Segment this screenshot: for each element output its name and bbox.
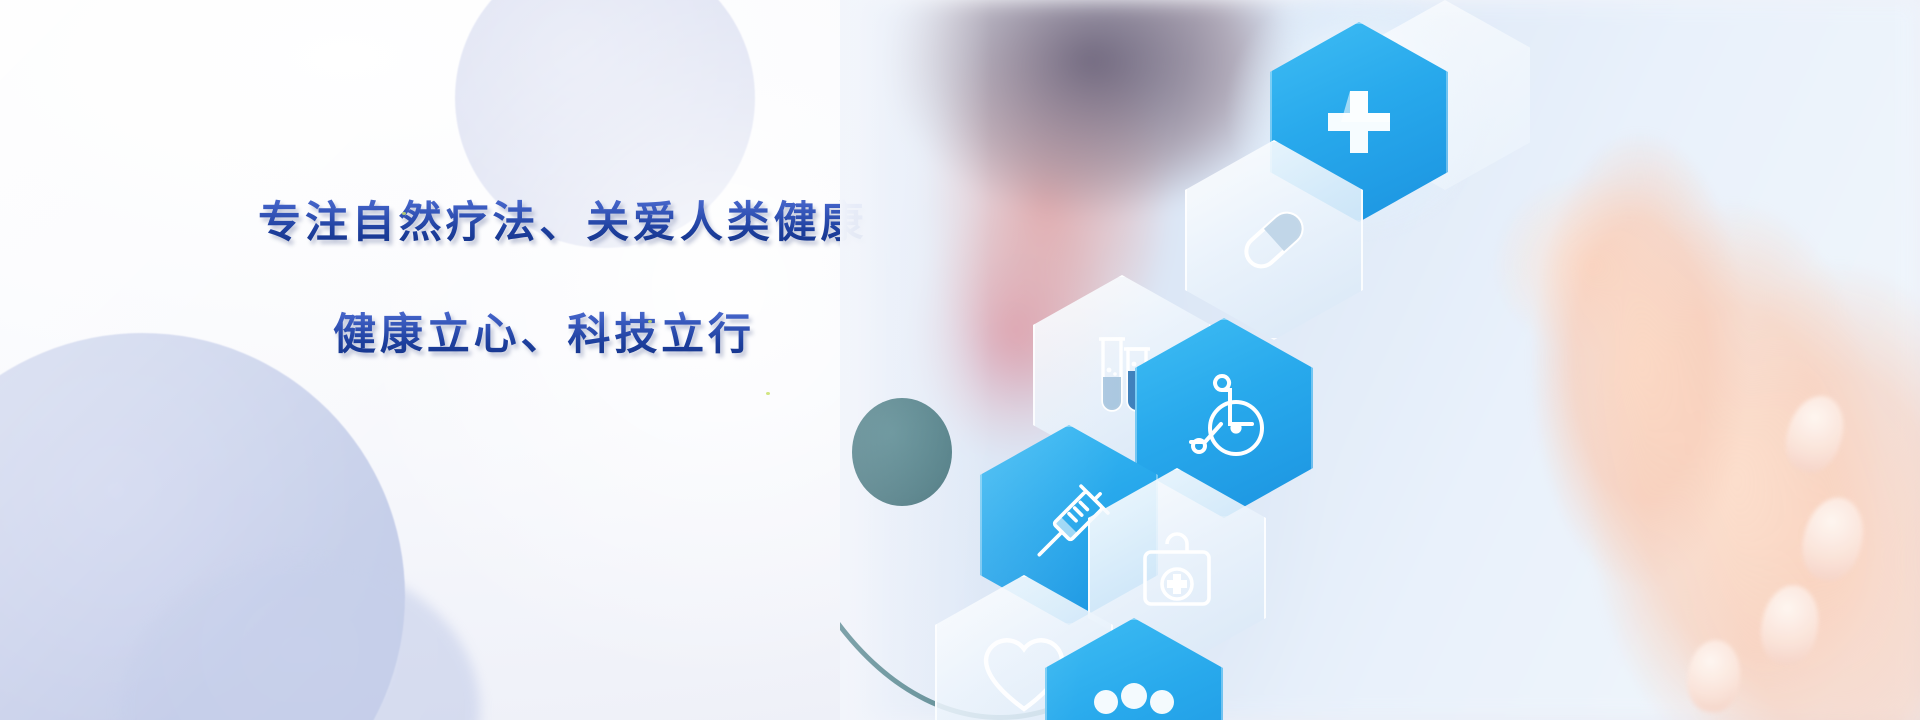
medical-cross-icon (1320, 83, 1398, 161)
headline-block: 专注自然疗法、关爱人类健康 健康立心、科技立行 (0, 0, 900, 720)
visual-stage (840, 0, 1920, 720)
headline-line-2: 健康立心、科技立行 (333, 300, 755, 362)
sparkle-dot (648, 320, 652, 323)
wheelchair-icon (1174, 370, 1274, 466)
sparkle-dot (402, 212, 406, 215)
people-group-icon (1082, 672, 1186, 720)
capsule-pill-icon (1226, 192, 1322, 288)
sparkle-dot (766, 392, 770, 395)
headline-line-1: 专注自然疗法、关爱人类健康 (258, 188, 867, 250)
hexagon-grid (840, 0, 1920, 720)
health-banner: 专注自然疗法、关爱人类健康 健康立心、科技立行 (0, 0, 1920, 720)
medical-bag-icon (1127, 518, 1227, 618)
